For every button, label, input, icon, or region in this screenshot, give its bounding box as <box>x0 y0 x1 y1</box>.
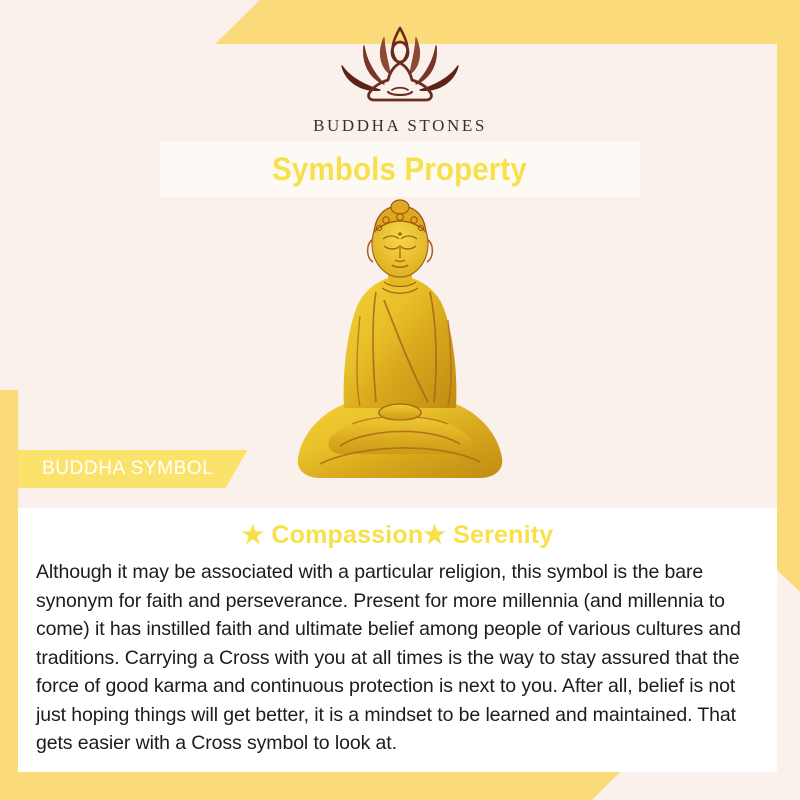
brand-header: BUDDHA STONES <box>0 22 800 136</box>
article-panel: ★ Compassion★ Serenity Although it may b… <box>18 508 777 772</box>
page-title: Symbols Property <box>273 151 528 188</box>
decorative-bottom-band <box>0 772 620 800</box>
badge-label: BUDDHA SYMBOL <box>42 458 213 480</box>
brand-name: BUDDHA STONES <box>0 116 800 136</box>
article-subtitle: ★ Compassion★ Serenity <box>32 520 763 550</box>
seated-buddha-statue-icon <box>280 196 520 496</box>
article-body: Although it may be associated with a par… <box>32 558 763 758</box>
poster-root: BUDDHA STONES Symbols Property <box>0 0 800 800</box>
lotus-meditation-icon <box>326 22 474 114</box>
buddha-symbol-badge: BUDDHA SYMBOL <box>18 450 247 488</box>
title-band: Symbols Property <box>160 141 640 197</box>
